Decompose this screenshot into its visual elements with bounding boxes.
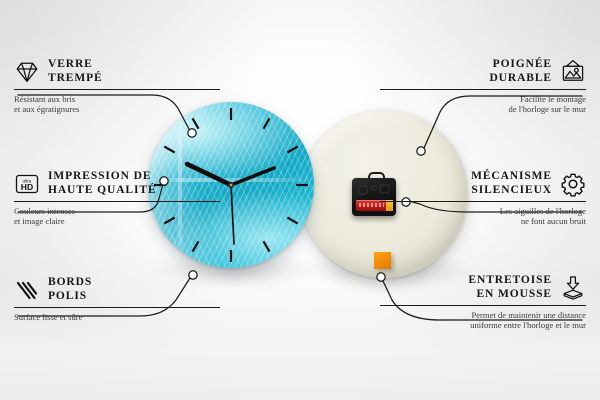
feature-header: BORDSPOLIS <box>14 276 220 303</box>
feature-description: Couleurs intenseset image claire <box>14 206 220 227</box>
feature-description: Facilite le montagede l'horloge sur le m… <box>380 94 586 115</box>
feature-title: VERRETREMPÉ <box>48 58 103 85</box>
feature-bords-polis: BORDSPOLIS Surface lisse et sûre <box>14 276 220 322</box>
feature-divider <box>380 201 586 202</box>
feature-header: POIGNÉEDURABLE <box>380 58 586 85</box>
feature-mecanisme-silencieux: MÉCANISMESILENCIEUX Les aiguilles de l'h… <box>380 170 586 227</box>
feature-divider <box>14 89 220 90</box>
feature-title: BORDSPOLIS <box>48 276 92 303</box>
polished-edges-icon <box>14 277 40 303</box>
feature-verre-trempe: VERRETREMPÉ Résistant aux briset aux égr… <box>14 58 220 115</box>
feature-divider <box>14 201 220 202</box>
gear-icon <box>560 171 586 197</box>
ultra-hd-big-label: HD <box>21 182 33 192</box>
feature-title: IMPRESSION DEHAUTE QUALITÉ <box>48 170 157 197</box>
feature-title: MÉCANISMESILENCIEUX <box>471 170 552 197</box>
feature-header: ultra HD IMPRESSION DEHAUTE QUALITÉ <box>14 170 220 197</box>
feature-title: ENTRETOISEEN MOUSSE <box>468 274 552 301</box>
feature-divider <box>380 89 586 90</box>
feature-description: Permet de maintenir une distanceuniforme… <box>380 310 586 331</box>
infographic-canvas: VERRETREMPÉ Résistant aux briset aux égr… <box>0 0 600 400</box>
feature-description: Résistant aux briset aux égratignures <box>14 94 220 115</box>
feature-divider <box>14 307 220 308</box>
feature-header: MÉCANISMESILENCIEUX <box>380 170 586 197</box>
feature-divider <box>380 305 586 306</box>
feature-header: ENTRETOISEEN MOUSSE <box>380 274 586 301</box>
feature-poignee-durable: POIGNÉEDURABLE Facilite le montagede l'h… <box>380 58 586 115</box>
feature-impression-haute-qualite: ultra HD IMPRESSION DEHAUTE QUALITÉ Coul… <box>14 170 220 227</box>
foam-spacer-sample <box>374 252 391 269</box>
feature-description: Les aiguilles de l'horlogene font aucun … <box>380 206 586 227</box>
feature-description: Surface lisse et sûre <box>14 312 220 323</box>
feature-title: POIGNÉEDURABLE <box>489 58 552 85</box>
picture-frame-hanger-icon <box>560 59 586 85</box>
feature-header: VERRETREMPÉ <box>14 58 220 85</box>
ultra-hd-icon: ultra HD <box>14 171 40 197</box>
feature-entretoise-en-mousse: ENTRETOISEEN MOUSSE Permet de maintenir … <box>380 274 586 331</box>
foam-spacer-arrow-icon <box>560 275 586 301</box>
diamond-icon <box>14 59 40 85</box>
